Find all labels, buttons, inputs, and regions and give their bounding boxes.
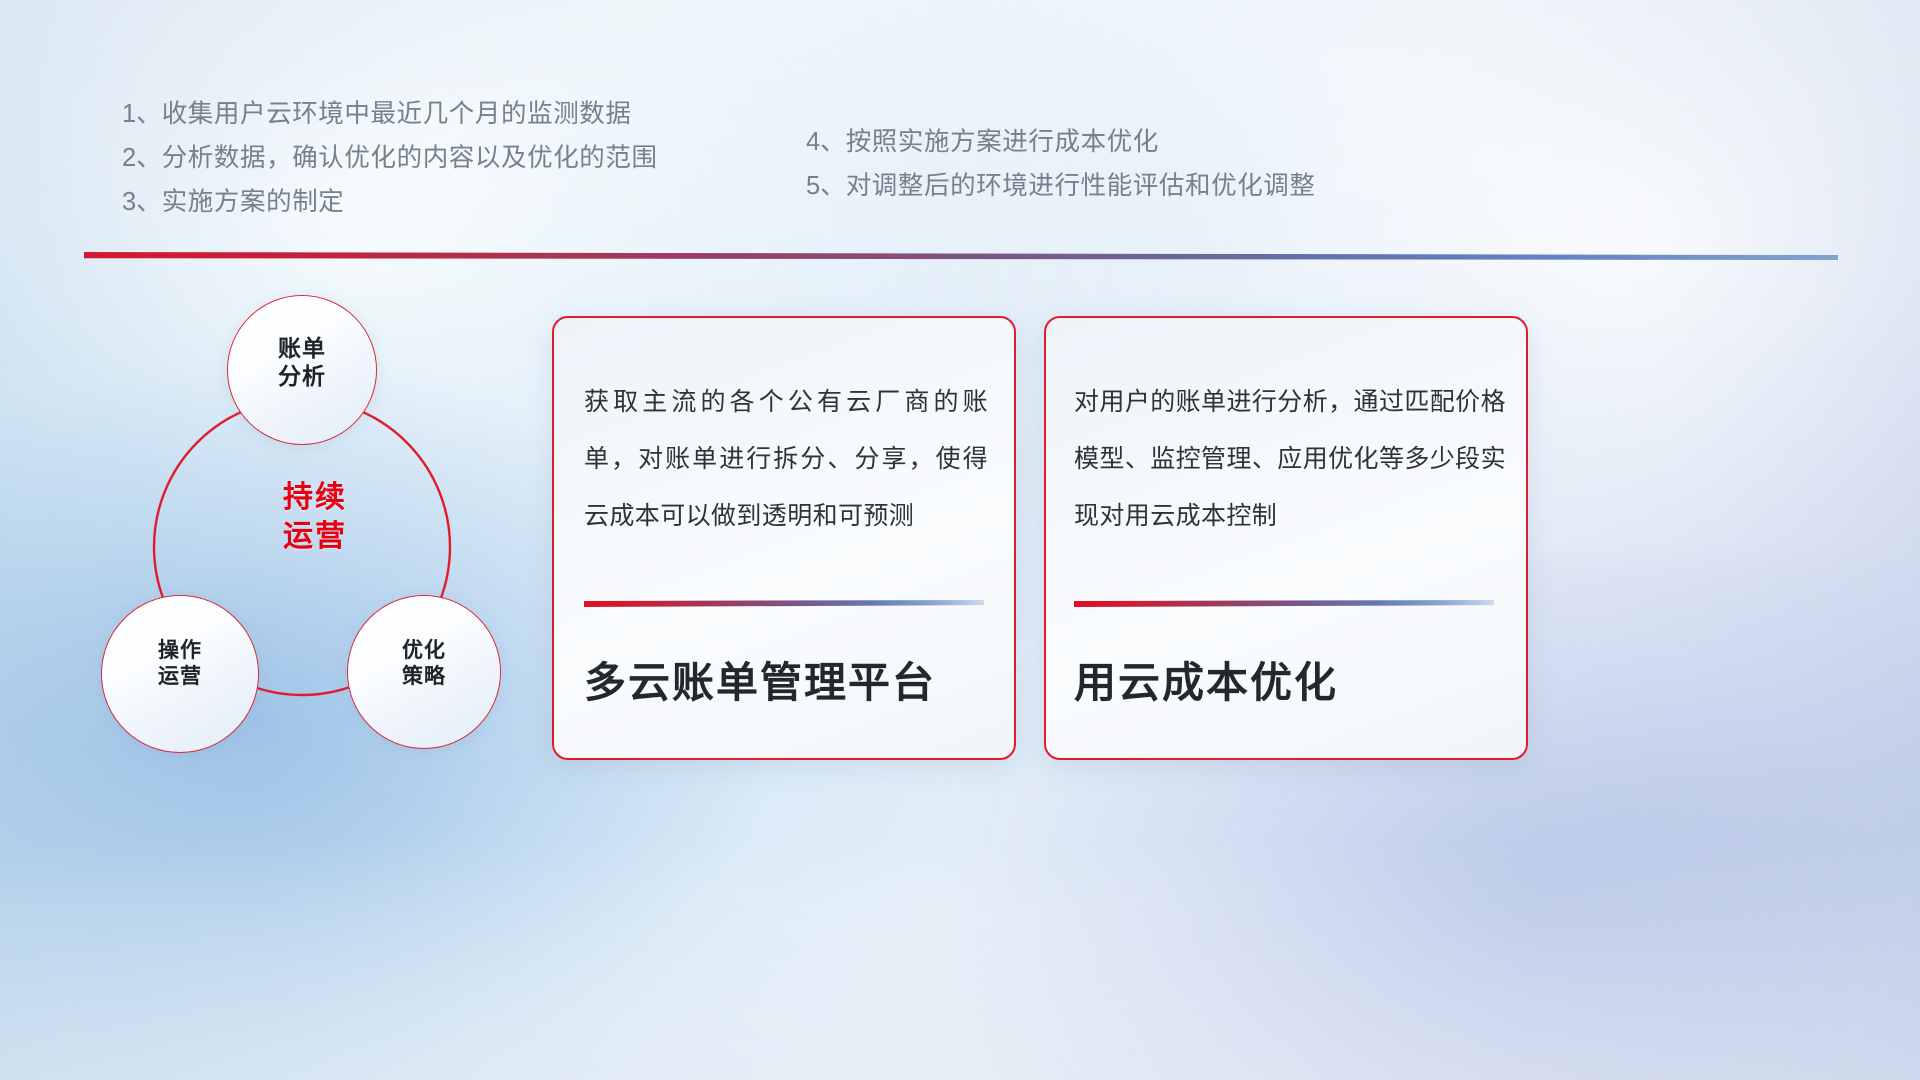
label-bill-analysis: 账单 分析 <box>228 334 376 390</box>
step-number: 3、 <box>122 188 162 216</box>
steps-column-left: 1、收集用户云环境中最近几个月的监测数据 2、分析数据，确认优化的内容以及优化的… <box>122 92 658 224</box>
label-continuous-operation: 持续 运营 <box>240 478 390 556</box>
card-divider <box>1074 600 1494 607</box>
step-number: 4、 <box>806 128 846 156</box>
step-item-5: 5、对调整后的环境进行性能评估和优化调整 <box>806 164 1316 208</box>
card-body-text: 获取主流的各个公有云厂商的账单，对账单进行拆分、分享，使得云成本可以做到透明和可… <box>584 374 988 545</box>
card-title: 用云成本优化 <box>1074 658 1506 708</box>
card-body-text: 对用户的账单进行分析，通过匹配价格模型、监控管理、应用优化等多少段实现对用云成本… <box>1074 374 1506 545</box>
step-text: 按照实施方案进行成本优化 <box>846 128 1159 156</box>
slide-canvas: 1、收集用户云环境中最近几个月的监测数据 2、分析数据，确认优化的内容以及优化的… <box>0 0 1920 1080</box>
step-number: 1、 <box>122 100 162 128</box>
steps-section: 1、收集用户云环境中最近几个月的监测数据 2、分析数据，确认优化的内容以及优化的… <box>0 92 1920 242</box>
step-text: 实施方案的制定 <box>162 188 345 216</box>
step-number: 5、 <box>806 172 846 200</box>
step-text: 对调整后的环境进行性能评估和优化调整 <box>846 172 1316 200</box>
card-cloud-cost-optimization[interactable]: 对用户的账单进行分析，通过匹配价格模型、监控管理、应用优化等多少段实现对用云成本… <box>1044 316 1528 760</box>
venn-diagram: 账单 分析 操作 运营 优化 策略 持续 运营 <box>80 282 550 772</box>
divider-gradient-bar <box>84 252 1838 260</box>
step-item-3: 3、实施方案的制定 <box>122 180 658 224</box>
label-optimization-strategy: 优化 策略 <box>348 638 500 689</box>
steps-column-right: 4、按照实施方案进行成本优化 5、对调整后的环境进行性能评估和优化调整 <box>806 120 1316 208</box>
step-text: 收集用户云环境中最近几个月的监测数据 <box>162 100 632 128</box>
step-item-2: 2、分析数据，确认优化的内容以及优化的范围 <box>122 136 658 180</box>
card-divider <box>584 600 984 607</box>
step-item-4: 4、按照实施方案进行成本优化 <box>806 120 1316 164</box>
card-multi-cloud-billing[interactable]: 获取主流的各个公有云厂商的账单，对账单进行拆分、分享，使得云成本可以做到透明和可… <box>552 316 1016 760</box>
label-ops-operation: 操作 运营 <box>102 638 258 689</box>
card-title: 多云账单管理平台 <box>584 658 994 708</box>
step-text: 分析数据，确认优化的内容以及优化的范围 <box>162 144 658 172</box>
section-divider <box>84 252 1838 264</box>
step-number: 2、 <box>122 144 162 172</box>
step-item-1: 1、收集用户云环境中最近几个月的监测数据 <box>122 92 658 136</box>
